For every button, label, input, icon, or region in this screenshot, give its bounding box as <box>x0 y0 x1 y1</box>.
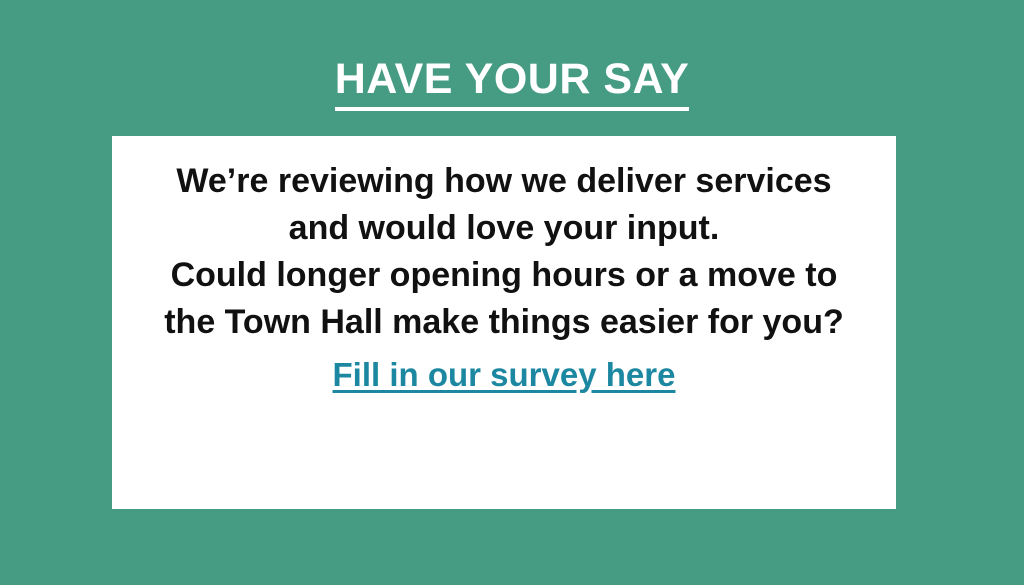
page-title-text: HAVE YOUR SAY <box>335 56 690 111</box>
message-body: We’re reviewing how we deliver services … <box>142 158 866 346</box>
survey-link[interactable]: Fill in our survey here <box>333 356 676 394</box>
survey-link-container: Fill in our survey here <box>142 356 866 394</box>
message-line-3: Could longer opening hours or a move to <box>142 252 866 299</box>
poster-canvas: HAVE YOUR SAY We’re reviewing how we del… <box>0 0 1024 585</box>
message-line-4: the Town Hall make things easier for you… <box>142 299 866 346</box>
message-card: We’re reviewing how we deliver services … <box>112 136 896 509</box>
page-title: HAVE YOUR SAY <box>0 56 1024 111</box>
message-line-1: We’re reviewing how we deliver services <box>142 158 866 205</box>
message-line-2: and would love your input. <box>142 205 866 252</box>
